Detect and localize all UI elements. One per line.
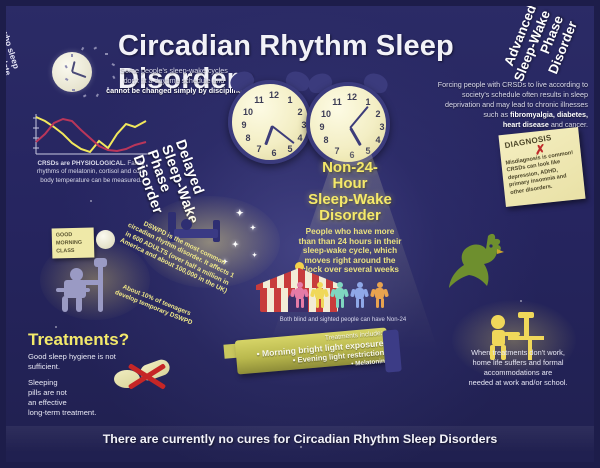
accom-line1: When treatments don't work, (471, 348, 565, 357)
treat-b1-line1: Good sleep hygiene is not (28, 352, 116, 361)
clock-num: 10 (320, 109, 332, 119)
treatments-body-pills: Sleeping pills are not an effective long… (28, 378, 112, 418)
clock-num: 8 (320, 135, 332, 145)
clock-hour-hand (349, 127, 362, 146)
good-morning-class-note: GOOD MORNING CLASS (52, 227, 95, 258)
student-leg (76, 296, 82, 312)
person-figure (352, 282, 367, 308)
sleeping-pills-icon (108, 358, 180, 394)
tube-cap (382, 329, 402, 372)
clock-hour-hand (264, 125, 274, 145)
person-leg (381, 298, 384, 308)
sleeper-head (181, 219, 192, 230)
clock-minute-hand (349, 106, 369, 129)
clock-num: 2 (294, 107, 306, 117)
sleepy-student-figure (56, 258, 112, 312)
person-figure (332, 282, 347, 308)
desk-top (56, 288, 90, 292)
sparkle-icon: ✦ (236, 208, 244, 219)
rhythm-chart-svg (28, 112, 150, 158)
person-arm (363, 289, 369, 298)
alarm-clock-right: 12 1 2 3 4 5 6 7 8 9 10 11 (306, 82, 390, 166)
chart-caption-bold: CRSDs are PHYSIOLOGICAL. (37, 160, 125, 167)
treat-b2-line2: pills are not (28, 388, 67, 397)
disorder-non-24-hour: Non-24- Hour Sleep-Wake Disorder People … (296, 160, 404, 275)
disorder-advanced-description: People who sleep and wake very early (0, 0, 55, 26)
accom-line3: accommodations are (484, 368, 553, 377)
lamp-pole (98, 264, 103, 312)
clock-num: 7 (253, 144, 265, 154)
student-leg (62, 296, 68, 312)
non24-line2: Hour (333, 175, 368, 192)
lamp-head (94, 258, 107, 267)
clock-num: 1 (362, 97, 374, 107)
person-figure (292, 282, 307, 308)
clock-num: 11 (253, 95, 265, 105)
person-figure (312, 282, 327, 308)
bottom-banner: There are currently no cures for Circadi… (0, 426, 600, 452)
sparkle-icon: ✦ (232, 240, 239, 249)
sparkle-icon: ✦ (250, 224, 256, 232)
note-line1: GOOD (56, 232, 73, 238)
clock-minute-hand (271, 125, 294, 144)
person-figure (372, 282, 387, 308)
clock-face: 12 1 2 3 4 5 6 7 8 9 10 11 (228, 80, 312, 164)
diagnosis-note: DIAGNOSIS ✗ Misdiagnosis is common! CRSD… (498, 127, 585, 207)
physiology-rhythm-chart (28, 112, 150, 158)
clock-num: 4 (294, 133, 306, 143)
treat-b1-line2: sufficient. (28, 362, 60, 371)
clock-num: 7 (331, 146, 343, 156)
chart-caption-line2: rhythms of melatonin, cortisol and core (37, 168, 145, 175)
non24-line4: Disorder (319, 207, 381, 224)
clock-num: 10 (242, 107, 254, 117)
person-leg (356, 298, 359, 308)
blurb-left-bold: cannot be changed simply by discipline (106, 86, 242, 95)
clock-num: 11 (331, 97, 343, 107)
person-leg (361, 298, 364, 308)
non24-title: Non-24- Hour Sleep-Wake Disorder (296, 160, 404, 224)
blurb-left-line1: Some people's sleep-wake cycles (120, 66, 228, 75)
treat-b2-line3: an effective (28, 398, 67, 407)
person-leg (321, 298, 324, 308)
person-leg (296, 298, 299, 308)
cortisol-series (36, 119, 146, 151)
clock-num: 5 (284, 144, 296, 154)
tent-caption: Both blind and sighted people can have N… (268, 316, 418, 324)
treat-b2-line4: long-term treatment. (28, 408, 96, 417)
sparkle-icon: ✦ (252, 252, 257, 259)
rooster-icon (444, 228, 510, 290)
clock-num: 12 (346, 92, 358, 102)
clock-num: 3 (376, 122, 388, 132)
clock-num: 1 (284, 95, 296, 105)
clock-num: 8 (242, 133, 254, 143)
bed-mattress (174, 229, 218, 238)
accom-line2: home life suffers and formal (472, 358, 563, 367)
chart-caption-line3: body temperature can be measured. (40, 177, 142, 184)
accommodations-text: When treatments don't work, home life su… (448, 348, 588, 388)
clock-face: 12 1 2 3 4 5 6 7 8 9 10 11 (306, 82, 390, 166)
clock-num: 9 (316, 122, 328, 132)
clock-num: 9 (238, 120, 250, 130)
infographic-poster: Circadian Rhythm Sleep Disorders Some pe… (0, 0, 600, 468)
clock-num: 4 (372, 135, 384, 145)
wall-clock-icon (96, 230, 115, 249)
clock-num: 6 (268, 148, 280, 158)
clock-num: 12 (268, 90, 280, 100)
treat-b2-line1: Sleeping (28, 378, 58, 387)
note-line3: CLASS (56, 248, 74, 254)
person-leg (341, 298, 344, 308)
bottom-banner-text: There are currently no cures for Circadi… (103, 432, 498, 446)
red-x-icon (126, 360, 166, 392)
person-arm (343, 289, 349, 298)
person-leg (376, 298, 379, 308)
non24-line3: Sleep-Wake (308, 191, 392, 208)
non24-line1: Non-24- (322, 159, 378, 176)
alarm-clock-left: 12 1 2 3 4 5 6 7 8 9 10 11 (228, 80, 312, 164)
person-leg (336, 298, 339, 308)
person-leg (316, 298, 319, 308)
person-arm (383, 289, 389, 298)
treatments-heading: Treatments? (28, 330, 129, 350)
note-line2: MORNING (56, 240, 82, 247)
clock-num: 2 (372, 109, 384, 119)
accom-line4: needed at work and/or school. (468, 378, 567, 387)
person-leg (301, 298, 304, 308)
blurb-left-line2: don't fit a daytime schedule and (124, 76, 225, 85)
clock-num: 5 (362, 146, 374, 156)
